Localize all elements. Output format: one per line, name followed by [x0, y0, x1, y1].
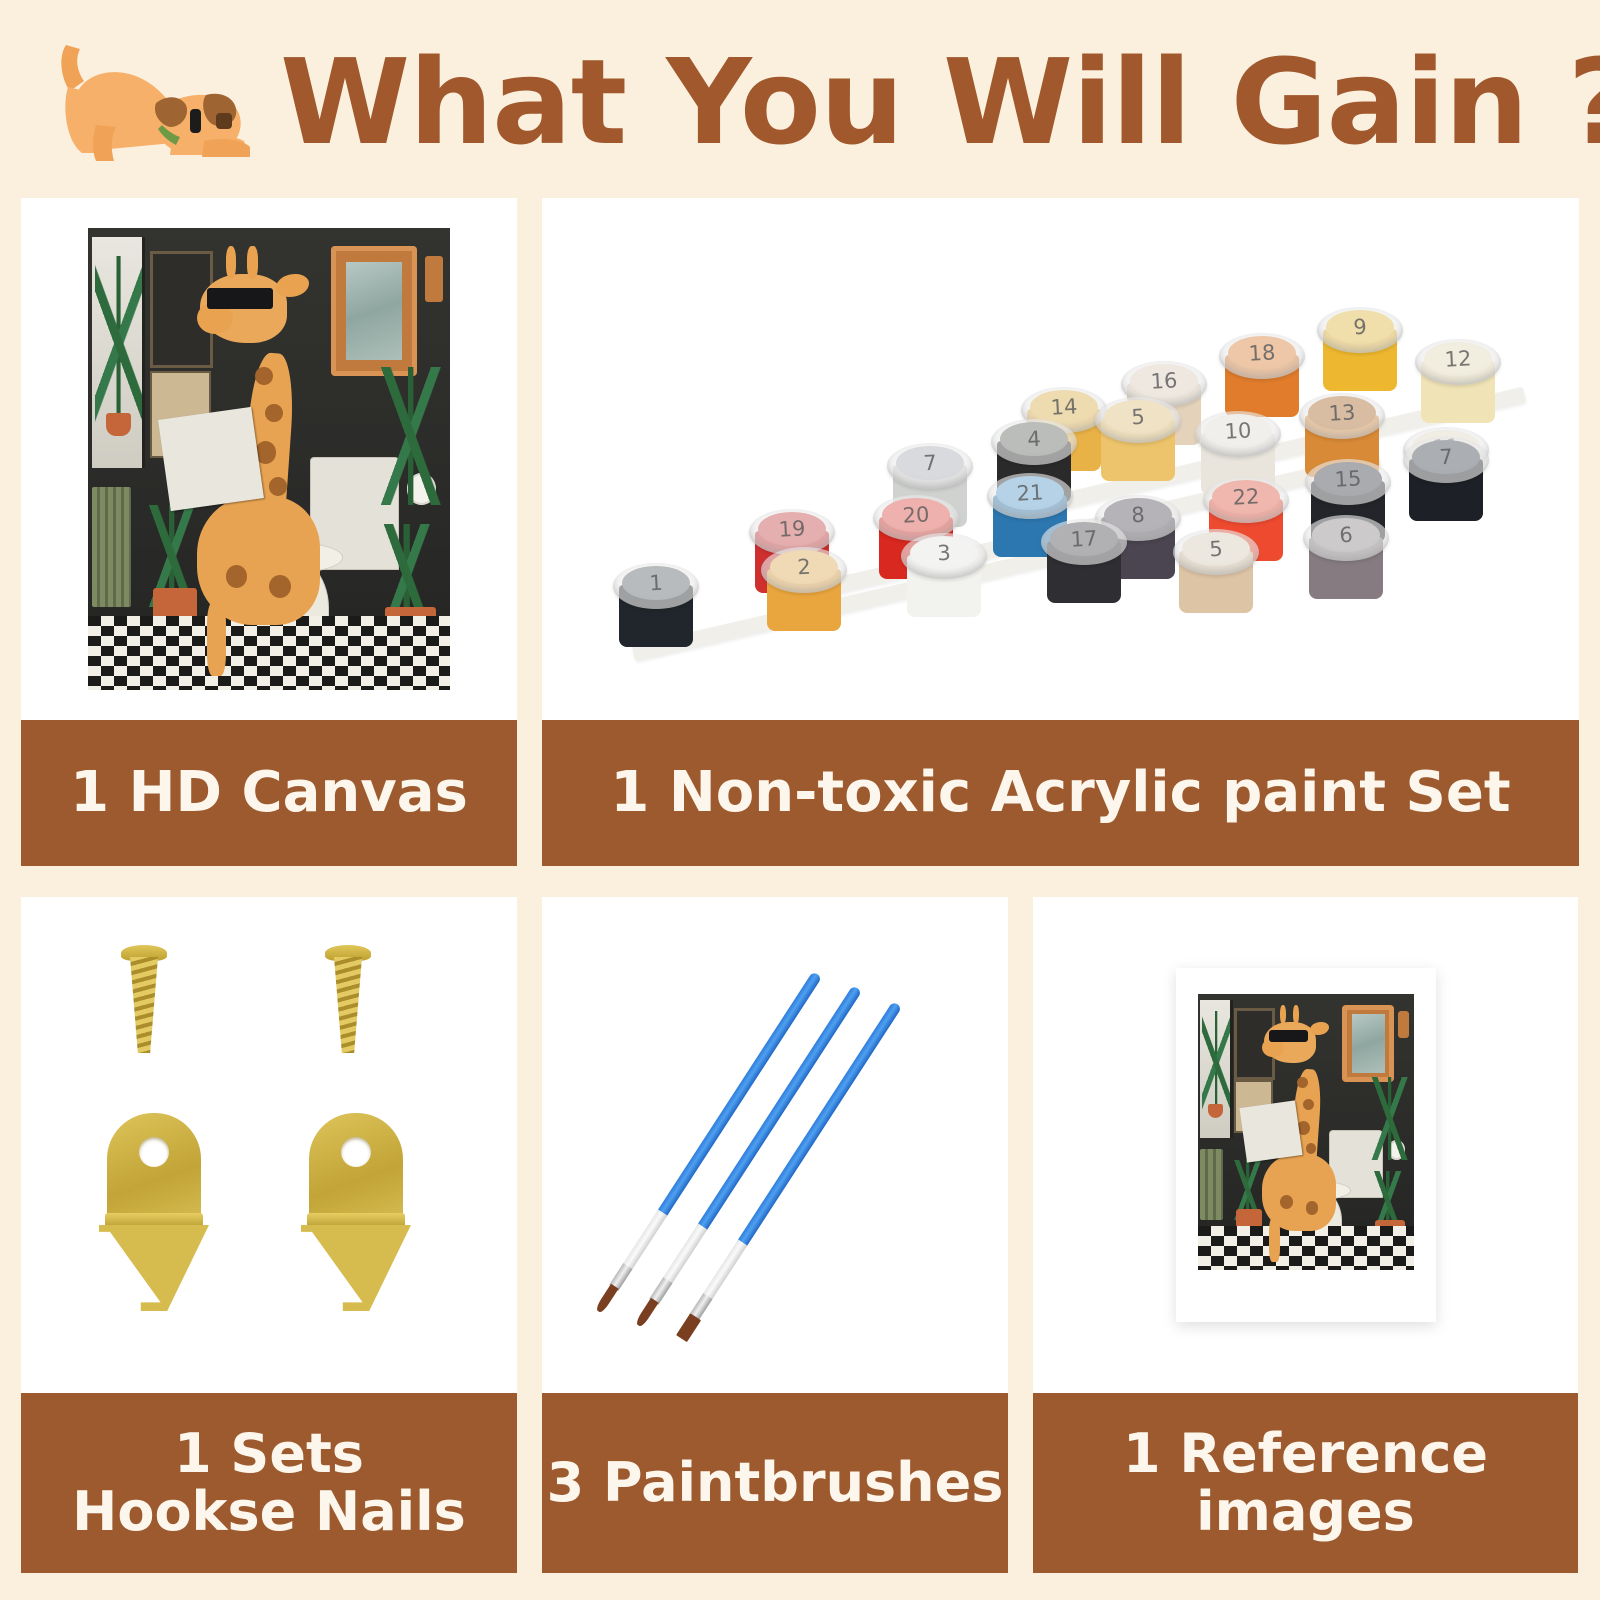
paint-pot-number: 15 — [1304, 465, 1391, 493]
paint-pot-number: 3 — [900, 539, 987, 567]
paint-pot-number: 17 — [1040, 525, 1127, 553]
paint-pot-number: 18 — [1218, 339, 1305, 367]
giraffe-bathroom-reference-image — [1198, 994, 1414, 1270]
dog-icon — [44, 29, 254, 179]
page-title: What You Will Gain ? — [280, 33, 1600, 171]
paint-pot-number: 2 — [760, 553, 847, 581]
paint-pot-number: 10 — [1194, 417, 1281, 445]
paint-pot: 17 — [1041, 511, 1127, 607]
card-reference-images[interactable]: 1 Reference images — [1033, 897, 1578, 1573]
hookse-nails-label-line2: Hookse Nails — [72, 1483, 466, 1541]
paint-pot: 5 — [1095, 389, 1181, 485]
card-hd-canvas[interactable]: 1 HD Canvas — [21, 198, 517, 866]
paint-pot: 2 — [761, 539, 847, 635]
triangle-hanger-icon — [99, 1113, 209, 1313]
card-acrylic-paint-set[interactable]: 14 16 18 9 — [542, 198, 1579, 866]
reference-images-media — [1033, 897, 1578, 1393]
reference-print-sheet — [1176, 968, 1436, 1322]
screw-icon — [121, 945, 167, 1065]
hookse-nails-media — [21, 897, 517, 1393]
paintbrushes-label: 3 Paintbrushes — [542, 1393, 1008, 1573]
paint-pot: 9 — [1317, 299, 1403, 395]
reference-images-label-line2: images — [1123, 1483, 1488, 1541]
card-row-bottom: 1 Sets Hookse Nails — [21, 897, 1579, 1573]
hookse-nails-label: 1 Sets Hookse Nails — [21, 1393, 517, 1573]
paint-pot: 12 — [1415, 331, 1501, 427]
paint-pot-number: 5 — [1094, 403, 1181, 431]
page-header: What You Will Gain ? — [0, 0, 1600, 198]
hd-canvas-media — [21, 198, 517, 720]
card-paintbrushes[interactable]: 3 Paintbrushes — [542, 897, 1008, 1573]
hookse-nails-label-line1: 1 Sets — [72, 1425, 466, 1483]
paintbrush-icon — [635, 985, 862, 1326]
reference-images-label: 1 Reference images — [1033, 1393, 1578, 1573]
screw-icon — [325, 945, 371, 1065]
reference-images-label-line1: 1 Reference — [1123, 1425, 1488, 1483]
infographic-page: What You Will Gain ? — [0, 0, 1600, 1600]
card-row-top: 1 HD Canvas 14 — [21, 198, 1579, 866]
card-hookse-nails[interactable]: 1 Sets Hookse Nails — [21, 897, 517, 1573]
paint-pot-number: 5 — [1172, 535, 1259, 563]
paint-pot: 3 — [901, 525, 987, 621]
brass-hardware-image — [89, 935, 449, 1355]
paint-pot-number: 13 — [1298, 399, 1385, 427]
paintbrush-icon — [675, 1001, 902, 1342]
acrylic-paint-set-label: 1 Non-toxic Acrylic paint Set — [542, 720, 1579, 866]
hd-canvas-label: 1 HD Canvas — [21, 720, 517, 866]
paint-set-media: 14 16 18 9 — [542, 198, 1579, 720]
paintbrush-icon — [595, 971, 822, 1312]
paint-pot-number: 9 — [1316, 313, 1403, 341]
acrylic-paint-pots-image: 14 16 18 9 — [591, 269, 1531, 649]
paint-pot: 5 — [1173, 521, 1259, 617]
giraffe-bathroom-canvas-image — [88, 228, 450, 690]
paint-pot-number: 7 — [1402, 443, 1489, 471]
paint-pot-number: 21 — [986, 479, 1073, 507]
paint-pot-number: 4 — [990, 425, 1077, 453]
paint-pot-number: 22 — [1202, 483, 1289, 511]
paintbrushes-media — [542, 897, 1008, 1393]
triangle-hanger-icon — [301, 1113, 411, 1313]
paint-pot-number: 7 — [886, 449, 973, 477]
paintbrushes-image — [585, 930, 965, 1360]
paint-pot: 6 — [1303, 507, 1389, 603]
paint-pot: 1 — [613, 555, 699, 651]
paint-pot-number: 6 — [1302, 521, 1389, 549]
paint-pot: 7 — [1403, 429, 1489, 525]
paint-pot-number: 12 — [1414, 345, 1501, 373]
paint-pot-number: 1 — [612, 569, 699, 597]
